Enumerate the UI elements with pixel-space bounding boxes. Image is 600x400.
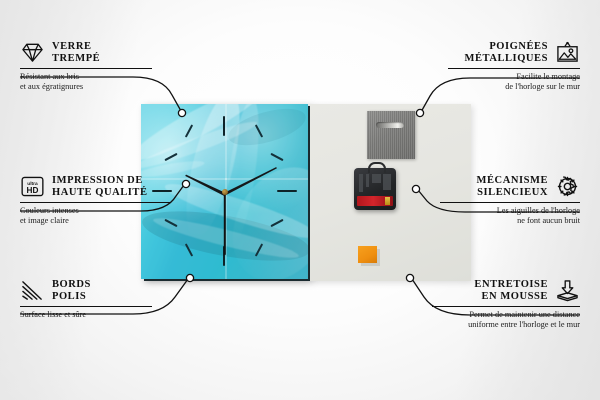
callout-rule (432, 306, 580, 307)
callout-rule (20, 306, 152, 307)
foam-spacer (358, 246, 377, 263)
callout-title-row: ultra HD IMPRESSION DE HAUTE QUALITÉ (20, 175, 170, 198)
mechanism-hanging-loop (368, 162, 386, 173)
mechanism-detail (366, 174, 369, 187)
callout-title-line2: TREMPÉ (52, 53, 100, 65)
callout-description: Couleurs intenses et image claire (20, 206, 170, 226)
callout-rule (20, 202, 170, 203)
diamond-icon (20, 41, 45, 64)
callout-poignees-metalliques: POIGNÉES MÉTALLIQUES Facilite le montage… (448, 41, 580, 92)
quartz-mechanism-box (354, 168, 396, 210)
callout-title-line2: SILENCIEUX (477, 187, 548, 199)
product-image (141, 104, 471, 282)
callout-rule (20, 68, 152, 69)
hands-center-cap (222, 189, 228, 195)
callout-verre-trempe: VERRE TREMPÉ Résistant aux bris et aux é… (20, 41, 152, 92)
callout-title-line2: POLIS (52, 291, 91, 303)
second-hand (224, 192, 226, 254)
callout-entretoise-en-mousse: ENTRETOISE EN MOUSSE Permet de maintenir… (432, 279, 580, 330)
callout-title-line2: EN MOUSSE (474, 291, 548, 303)
picture-frame-hanging-icon (555, 41, 580, 64)
callout-title-row: VERRE TREMPÉ (20, 41, 152, 64)
callout-description: Résistant aux bris et aux égratignures (20, 72, 152, 92)
callout-impression-haute-qualite: ultra HD IMPRESSION DE HAUTE QUALITÉ Cou… (20, 175, 170, 226)
svg-text:HD: HD (27, 186, 39, 195)
callout-title-row: ENTRETOISE EN MOUSSE (432, 279, 580, 302)
callout-title-line2: MÉTALLIQUES (465, 53, 548, 65)
callout-title-line1: POIGNÉES (465, 41, 548, 53)
callout-bords-polis: BORDS POLIS Surface lisse et sûre (20, 279, 152, 320)
hour-mark-3 (277, 190, 297, 192)
gear-icon (555, 175, 580, 198)
callout-rule (440, 202, 580, 203)
callout-description: Surface lisse et sûre (20, 310, 152, 320)
infographic-canvas: VERRE TREMPÉ Résistant aux bris et aux é… (0, 0, 600, 400)
ultra-hd-icon: ultra HD (20, 175, 45, 198)
glass-pane (225, 178, 308, 279)
callout-title-row: BORDS POLIS (20, 279, 152, 302)
callout-title-line1: ENTRETOISE (474, 279, 548, 291)
callout-title-row: POIGNÉES MÉTALLIQUES (448, 41, 580, 64)
battery (357, 196, 393, 206)
mechanism-detail (383, 174, 391, 190)
arrow-down-onto-pad-icon (555, 279, 580, 302)
callout-title-line1: MÉCANISME (477, 175, 548, 187)
metallic-hanger-plate (367, 111, 415, 159)
callout-title-line1: BORDS (52, 279, 91, 291)
glass-pane (141, 104, 227, 180)
polished-edge-icon (20, 279, 45, 302)
callout-description: Facilite le montage de l'horloge sur le … (448, 72, 580, 92)
hour-mark-12 (223, 116, 225, 136)
mechanism-detail (372, 174, 381, 183)
hanger-slot (376, 122, 404, 128)
callout-description: Permet de maintenir une distance uniform… (432, 310, 580, 330)
mechanism-detail (359, 174, 363, 192)
callout-mecanisme-silencieux: MÉCANISME SILENCIEUX Les (440, 175, 580, 226)
callout-description: Les aiguilles de l'horloge ne font aucun… (440, 206, 580, 226)
callout-title-row: MÉCANISME SILENCIEUX (440, 175, 580, 198)
callout-title-line1: IMPRESSION DE (52, 175, 148, 187)
glass-pane (225, 104, 308, 180)
callout-title-line1: VERRE (52, 41, 100, 53)
callout-rule (448, 68, 580, 69)
callout-title-line2: HAUTE QUALITÉ (52, 187, 148, 199)
